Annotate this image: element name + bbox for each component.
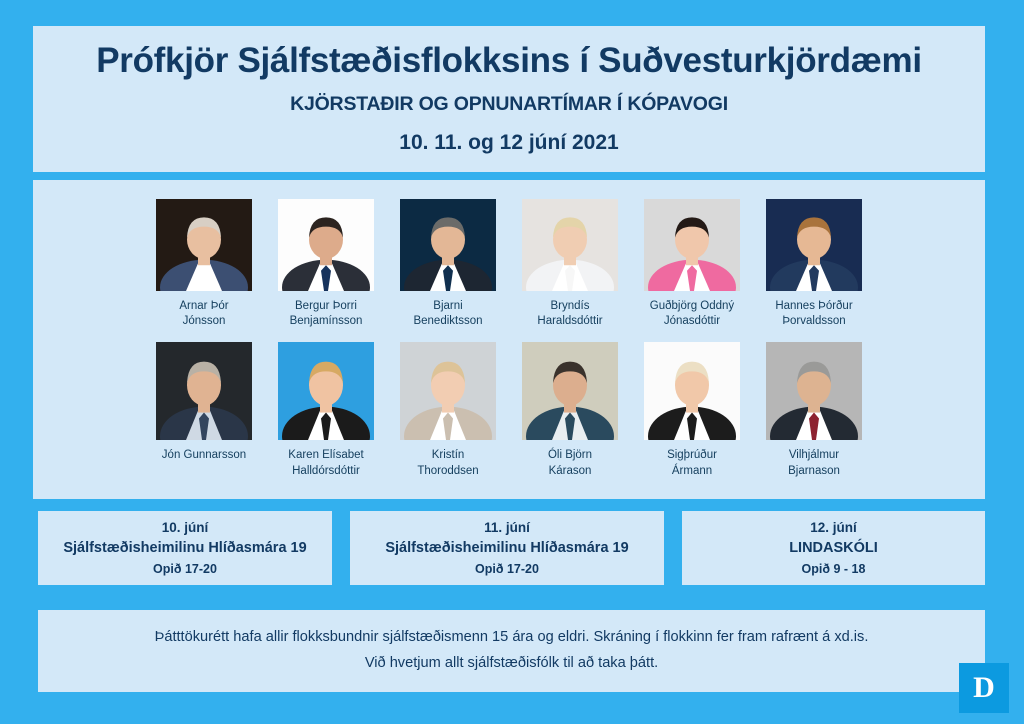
date-box-place: Sjálfstæðisheimilinu Hlíðasmára 19: [385, 538, 628, 560]
portrait-oli: [522, 342, 618, 440]
logo-letter: D: [973, 673, 995, 703]
date-box-date: 10. júní: [162, 518, 209, 538]
portrait-hannes: [766, 199, 862, 291]
date-box-2: 12. júní LINDASKÓLI Opið 9 - 18: [682, 511, 985, 585]
page-subtitle: KJÖRSTAÐIR OG OPNUNARTÍMAR Í KÓPAVOGI: [290, 93, 728, 116]
portrait-jon: [156, 342, 252, 440]
portrait-bergur: [278, 199, 374, 291]
candidate-name: SigþrúðurÁrmann: [667, 448, 717, 478]
header-date-line: 10. 11. og 12 júní 2021: [399, 131, 618, 155]
date-box-place: Sjálfstæðisheimilinu Hlíðasmára 19: [63, 538, 306, 560]
page-title: Prófkjör Sjálfstæðisflokksins í Suðvestu…: [96, 43, 922, 80]
date-box-date: 12. júní: [810, 518, 857, 538]
candidate-card: KristínThoroddsen: [400, 342, 496, 478]
candidate-card: BjarniBenediktsson: [400, 199, 496, 329]
portrait-bjarni: [400, 199, 496, 291]
candidate-card: SigþrúðurÁrmann: [644, 342, 740, 478]
date-box-hours: Opið 9 - 18: [802, 560, 866, 579]
portrait-sigthrudur: [644, 342, 740, 440]
candidate-row-2: Jón Gunnarsson Karen ElísabetHalldórsdót…: [33, 342, 985, 478]
portrait-vilhjalmur: [766, 342, 862, 440]
date-box-0: 10. júní Sjálfstæðisheimilinu Hlíðasmára…: [38, 511, 332, 585]
candidate-card: Hannes ÞórðurÞorvaldsson: [766, 199, 862, 329]
candidate-name: Bergur ÞorriBenjamínsson: [290, 299, 363, 329]
date-box-1: 11. júní Sjálfstæðisheimilinu Hlíðasmára…: [350, 511, 664, 585]
footer-panel: Þátttökurétt hafa allir flokksbundnir sj…: [38, 610, 985, 692]
candidate-card: Bergur ÞorriBenjamínsson: [278, 199, 374, 329]
portrait-arnar: [156, 199, 252, 291]
candidate-name: Arnar ÞórJónsson: [179, 299, 228, 329]
date-box-date: 11. júní: [484, 518, 530, 538]
candidate-card: BryndísHaraldsdóttir: [522, 199, 618, 329]
candidate-name: Guðbjörg OddnýJónasdóttir: [650, 299, 734, 329]
candidate-card: Guðbjörg OddnýJónasdóttir: [644, 199, 740, 329]
poster-root: Prófkjör Sjálfstæðisflokksins í Suðvestu…: [0, 0, 1024, 724]
candidate-name: Óli BjörnKárason: [548, 448, 592, 478]
candidate-name: Karen ElísabetHalldórsdóttir: [288, 448, 363, 478]
candidate-name: Jón Gunnarsson: [162, 448, 246, 463]
date-box-place: LINDASKÓLI: [789, 538, 878, 560]
candidate-card: VilhjálmurBjarnason: [766, 342, 862, 478]
header-panel: Prófkjör Sjálfstæðisflokksins í Suðvestu…: [33, 26, 985, 172]
candidate-name: Hannes ÞórðurÞorvaldsson: [775, 299, 852, 329]
candidate-card: Óli BjörnKárason: [522, 342, 618, 478]
candidate-card: Karen ElísabetHalldórsdóttir: [278, 342, 374, 478]
candidate-name: KristínThoroddsen: [417, 448, 478, 478]
candidate-card: Jón Gunnarsson: [156, 342, 252, 478]
candidate-name: BjarniBenediktsson: [413, 299, 482, 329]
party-logo: D: [959, 663, 1009, 713]
candidates-panel: Arnar ÞórJónsson Bergur ÞorriBenjamínsso…: [33, 180, 985, 499]
portrait-gudbjorg: [644, 199, 740, 291]
candidate-card: Arnar ÞórJónsson: [156, 199, 252, 329]
portrait-bryndis: [522, 199, 618, 291]
date-box-hours: Opið 17-20: [153, 560, 217, 579]
footer-line-2: Við hvetjum allt sjálfstæðisfólk til að …: [365, 651, 658, 677]
footer-line-1: Þátttökurétt hafa allir flokksbundnir sj…: [155, 625, 869, 651]
candidate-name: VilhjálmurBjarnason: [788, 448, 840, 478]
portrait-karen: [278, 342, 374, 440]
candidate-row-1: Arnar ÞórJónsson Bergur ÞorriBenjamínsso…: [33, 199, 985, 329]
candidate-name: BryndísHaraldsdóttir: [537, 299, 602, 329]
date-box-hours: Opið 17-20: [475, 560, 539, 579]
portrait-kristin: [400, 342, 496, 440]
